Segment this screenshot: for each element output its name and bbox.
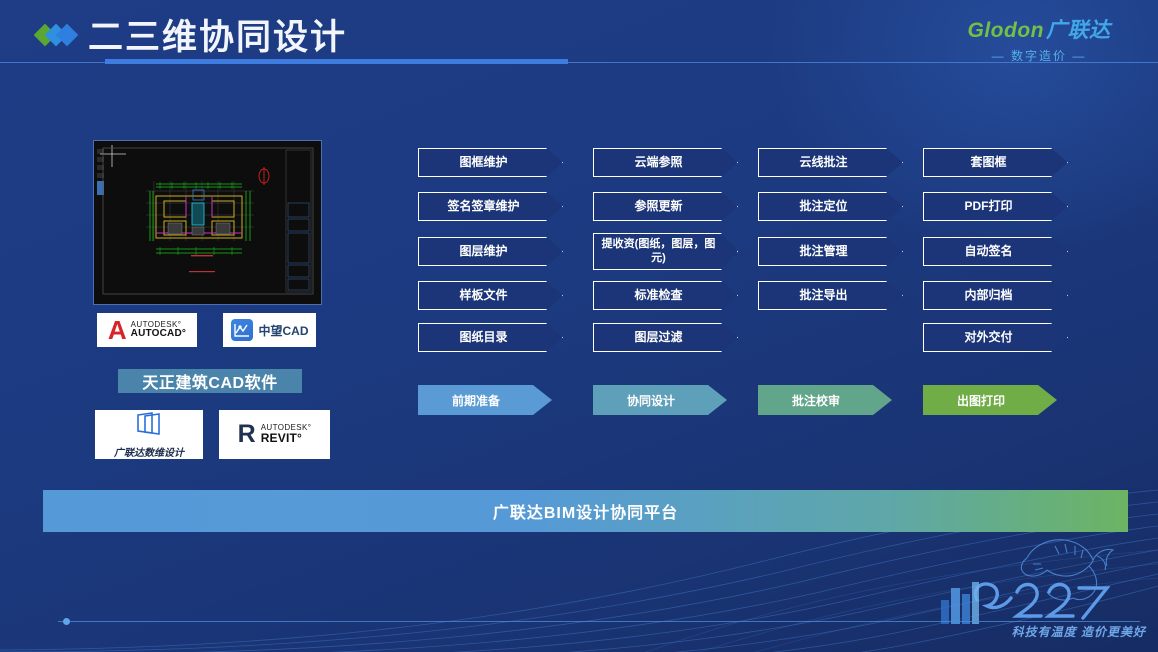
feature-chevron[interactable]: 提收资(图纸，图层，图元) (593, 233, 738, 270)
header-rule-accent (105, 59, 568, 64)
feature-chevron[interactable]: 参照更新 (593, 192, 738, 221)
feature-chevron[interactable]: 云端参照 (593, 148, 738, 177)
diamond-cluster-icon (34, 23, 86, 49)
zwcad-logo: 中望CAD (223, 313, 316, 347)
feature-chevron[interactable]: 批注导出 (758, 281, 903, 310)
brand-logo: Glodon广联达 — 数字造价 — (944, 14, 1134, 64)
feature-chevron[interactable]: 批注管理 (758, 237, 903, 266)
glodon-box-icon (132, 424, 166, 441)
feature-chevron[interactable]: 签名签章维护 (418, 192, 563, 221)
slide-canvas: 二三维协同设计 Glodon广联达 — 数字造价 — (0, 0, 1158, 652)
page-title: 二三维协同设计 (88, 9, 347, 60)
feature-chevron[interactable]: 图纸目录 (418, 323, 563, 352)
glodon-digital-design-label: 广联达数维设计 (114, 444, 184, 459)
feature-chevron[interactable]: 套图框 (923, 148, 1068, 177)
zwcad-label: 中望CAD (259, 322, 309, 339)
stage-chevron[interactable]: 前期准备 (418, 385, 552, 415)
brand-name-en: Glodon (968, 19, 1044, 42)
tiger-icon (1021, 540, 1113, 600)
feature-chevron[interactable]: 样板文件 (418, 281, 563, 310)
year-decoration (929, 526, 1144, 634)
autocad-line2: AUTOCAD° (131, 329, 186, 340)
cad-drawing-preview (93, 140, 322, 305)
decoration-tagline: 科技有温度 造价更美好 (1012, 623, 1146, 640)
stage-chevron[interactable]: 出图打印 (923, 385, 1057, 415)
footer-dot (63, 618, 70, 625)
zwcad-icon (231, 319, 253, 341)
revit-mark: R (238, 422, 256, 447)
feature-chevron[interactable]: 批注定位 (758, 192, 903, 221)
footer-rule (58, 621, 1140, 622)
platform-label: 广联达BIM设计协同平台 (493, 499, 678, 523)
slide-header: 二三维协同设计 Glodon广联达 — 数字造价 — (0, 0, 1158, 78)
building-bars-icon (941, 582, 979, 624)
feature-chevron[interactable]: 图框维护 (418, 148, 563, 177)
stage-chevron[interactable]: 协同设计 (593, 385, 727, 415)
platform-banner: 广联达BIM设计协同平台 (43, 490, 1128, 532)
feature-chevron[interactable]: 图层过滤 (593, 323, 738, 352)
year-script (975, 584, 1107, 618)
autocad-mark: A (108, 317, 127, 343)
autocad-logo: A AUTODESK° AUTOCAD° (97, 313, 197, 347)
feature-chevron[interactable]: 内部归档 (923, 281, 1068, 310)
brand-tagline: — 数字造价 — (944, 47, 1134, 64)
feature-chevron[interactable]: 自动签名 (923, 237, 1068, 266)
brand-name-cn: 广联达 (1046, 19, 1111, 42)
glodon-digital-design-logo: 广联达数维设计 (95, 410, 203, 459)
feature-chevron[interactable]: 云线批注 (758, 148, 903, 177)
feature-chevron[interactable]: 图层维护 (418, 237, 563, 266)
revit-logo: R AUTODESK° REVIT° (219, 410, 330, 459)
feature-chevron[interactable]: PDF打印 (923, 192, 1068, 221)
feature-chevron[interactable]: 对外交付 (923, 323, 1068, 352)
tianzheng-cad-label: 天正建筑CAD软件 (118, 369, 302, 393)
revit-line2: REVIT° (261, 432, 312, 445)
feature-chevron[interactable]: 标准检查 (593, 281, 738, 310)
stage-chevron[interactable]: 批注校审 (758, 385, 892, 415)
